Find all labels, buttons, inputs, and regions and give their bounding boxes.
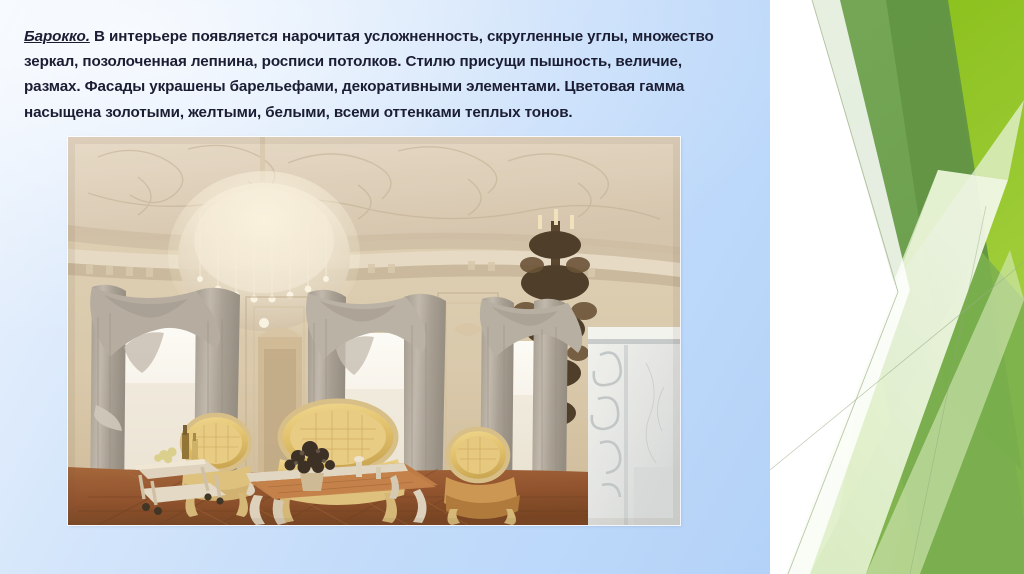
style-description-text: В интерьере появляется нарочитая усложне… — [24, 28, 714, 121]
slide-body-text: Барокко. В интерьере появляется нарочита… — [24, 24, 739, 125]
slide-canvas: Барокко. В интерьере появляется нарочита… — [0, 0, 1024, 574]
green-angular-ribbons-decoration — [770, 0, 1024, 574]
baroque-interior-photo — [68, 137, 680, 525]
photo-warm-grade — [68, 137, 680, 525]
style-term-label: Барокко. — [24, 28, 90, 45]
